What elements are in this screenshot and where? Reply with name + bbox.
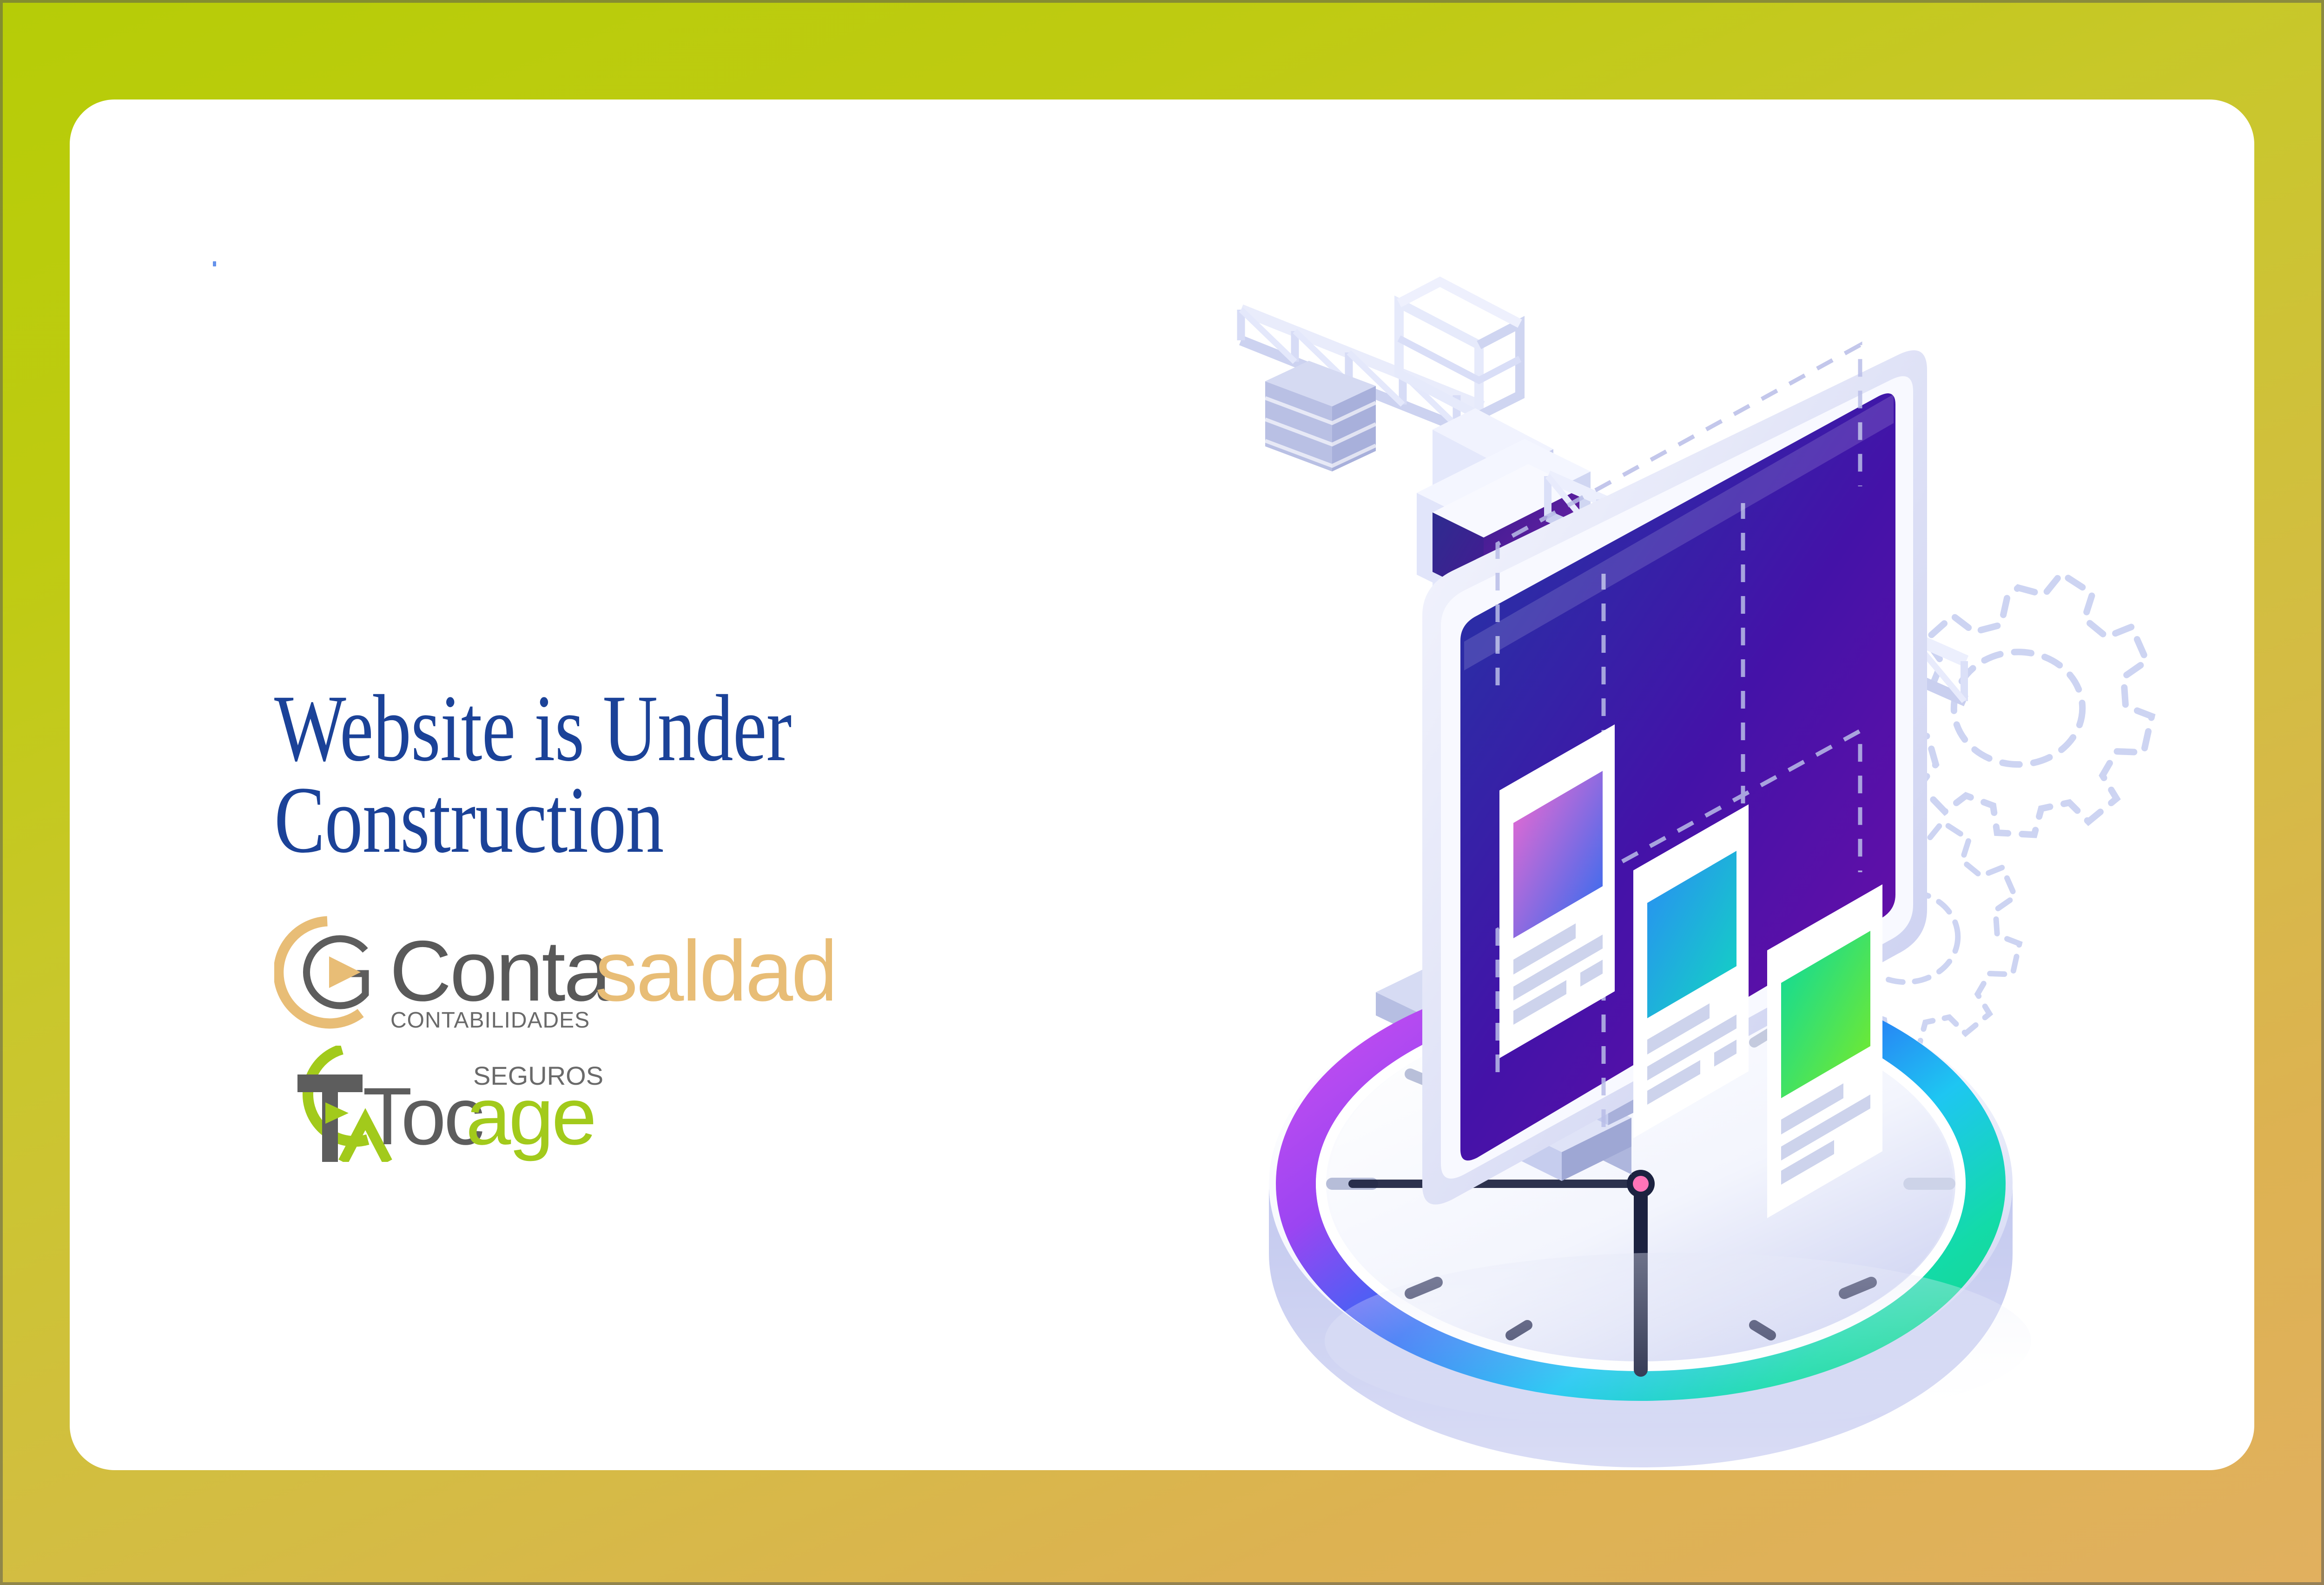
logo-contasaldada: Conta saldada CONTABILIDADES bbox=[274, 909, 832, 1034]
tocage-word-dark: Toc bbox=[363, 1071, 482, 1162]
under-construction-illustration bbox=[1222, 276, 2245, 1494]
tocage-logo-svg: Toc age SEGUROS bbox=[274, 1046, 693, 1162]
contasaldada-word-dark: Conta bbox=[390, 923, 612, 1019]
poster-canvas: Website is Under Construction Conta sald… bbox=[0, 0, 2324, 1585]
circle-g-play-icon bbox=[274, 919, 365, 1034]
left-content-column: Website is Under Construction bbox=[274, 683, 971, 866]
white-content-card: Website is Under Construction Conta sald… bbox=[70, 99, 2254, 1470]
stray-pixel-artifact bbox=[213, 261, 216, 266]
contasaldada-word-accent: saldada bbox=[595, 923, 832, 1019]
contasaldada-tagline: CONTABILIDADES bbox=[390, 1008, 590, 1033]
ground-shadow bbox=[1325, 1253, 2031, 1429]
logo-tocage: Toc age SEGUROS bbox=[274, 1046, 693, 1162]
page-title: Website is Under Construction bbox=[274, 683, 832, 866]
contasaldada-logo-svg: Conta saldada CONTABILIDADES bbox=[274, 909, 832, 1034]
illustration-svg bbox=[1222, 276, 2245, 1494]
clock-center-dot bbox=[1633, 1176, 1649, 1192]
tocage-tagline: SEGUROS bbox=[473, 1061, 603, 1090]
counterweight bbox=[1265, 361, 1376, 471]
